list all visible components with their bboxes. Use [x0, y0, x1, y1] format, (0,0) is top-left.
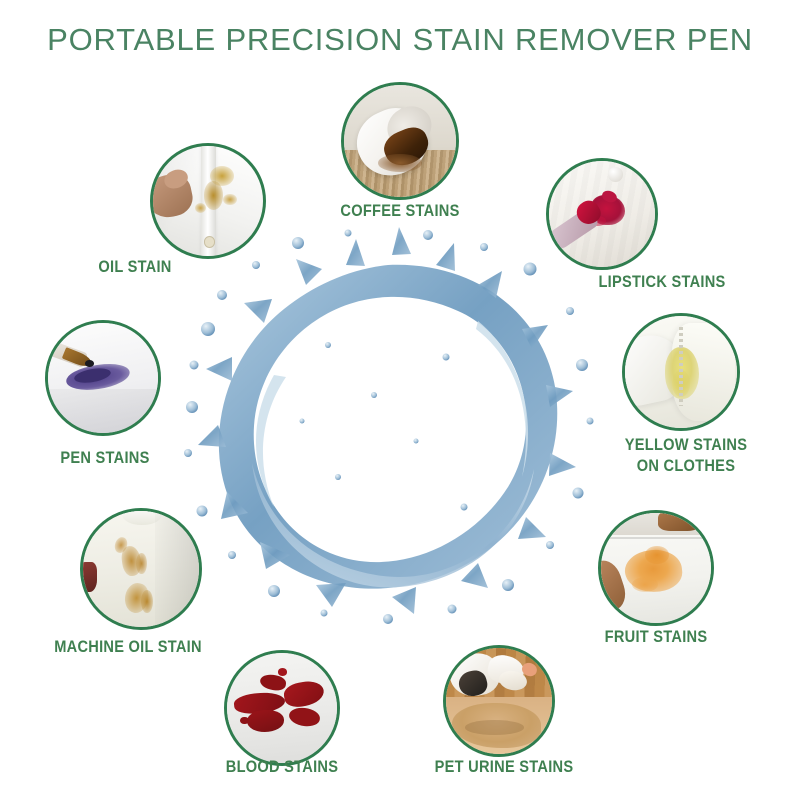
feature-label-lipstick: LIPSTICK STAINS: [580, 271, 743, 292]
feature-label-machine-oil: MACHINE OIL STAIN: [42, 636, 214, 657]
feature-image-blood: [224, 650, 340, 766]
feature-image-fruit: [598, 510, 714, 626]
feature-image-machine-oil: [80, 508, 202, 630]
water-splash-graphic: [178, 225, 598, 625]
product-infographic: PORTABLE PRECISION STAIN REMOVER PEN: [0, 0, 800, 800]
feature-image-lipstick: [546, 158, 658, 270]
feature-label-yellow: YELLOW STAINS ON CLOTHES: [604, 434, 767, 476]
feature-label-blood: BLOOD STAINS: [200, 756, 363, 777]
feature-image-yellow: [622, 313, 740, 431]
feature-label-oil: OIL STAIN: [53, 256, 216, 277]
feature-label-pen: PEN STAINS: [23, 447, 186, 468]
feature-label-pet-urine: PET URINE STAINS: [422, 756, 585, 777]
feature-image-pen: [45, 320, 161, 436]
feature-image-coffee: [341, 82, 459, 200]
feature-label-fruit: FRUIT STAINS: [574, 626, 737, 647]
feature-image-oil: [150, 143, 266, 259]
page-title: PORTABLE PRECISION STAIN REMOVER PEN: [0, 22, 800, 58]
feature-image-pet-urine: [443, 645, 555, 757]
feature-label-coffee: COFFEE STAINS: [318, 200, 481, 221]
